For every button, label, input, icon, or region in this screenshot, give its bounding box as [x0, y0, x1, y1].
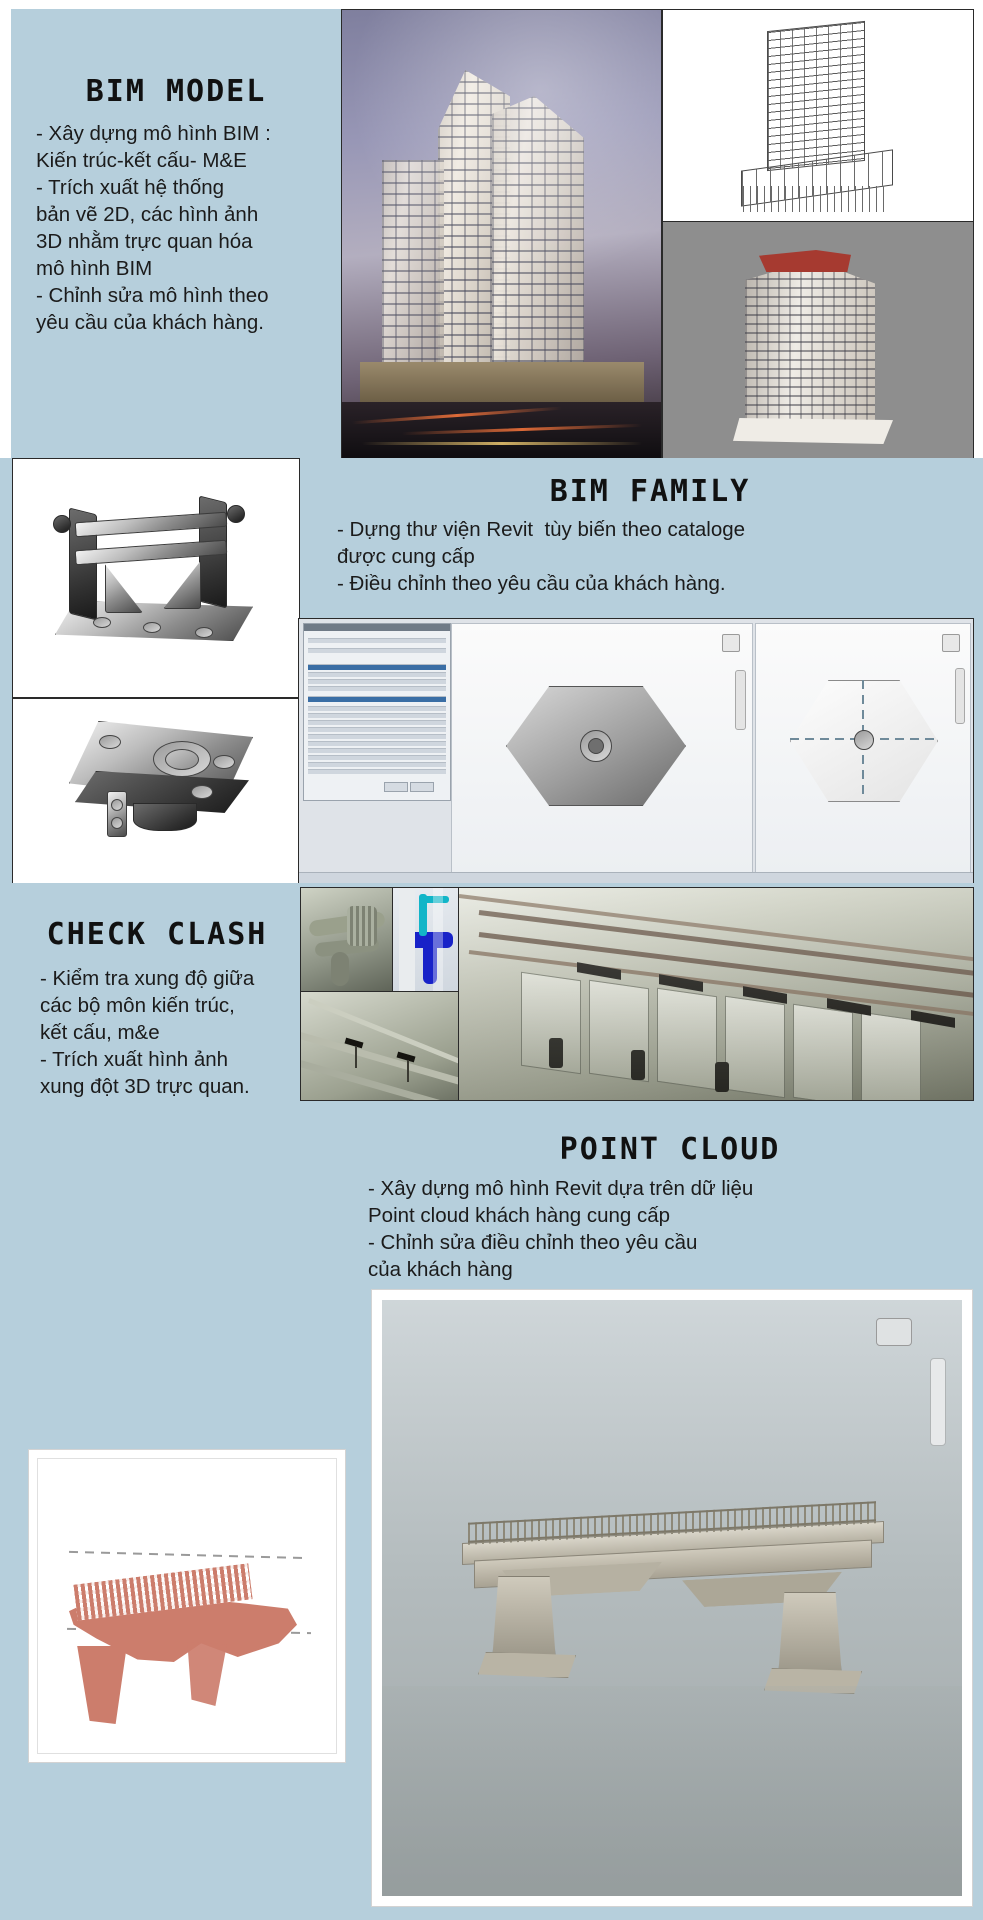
bim-model-title: BIM MODEL: [11, 75, 341, 108]
view-cube-icon[interactable]: [876, 1318, 912, 1346]
point-cloud-scan-image: [29, 1450, 345, 1762]
section-check-clash: CHECK CLASH - Kiểm tra xung độ giữa các …: [0, 883, 983, 1108]
bim-model-massing-image: [662, 221, 974, 458]
text-line: yêu cầu của khách hàng.: [36, 309, 336, 336]
revit-status-bar: [299, 872, 973, 883]
text-line: - Kiểm tra xung độ giữa: [40, 965, 310, 992]
text-line: xung đột 3D trực quan.: [40, 1073, 310, 1100]
bim-family-plate-image: [12, 698, 300, 883]
check-clash-pipe-image: [300, 887, 394, 993]
point-cloud-model-image: [372, 1290, 972, 1906]
text-line: - Trích xuất hình ảnh: [40, 1046, 310, 1073]
text-line: - Trích xuất hệ thống: [36, 174, 336, 201]
check-clash-description: - Kiểm tra xung độ giữa các bộ môn kiến …: [40, 965, 310, 1100]
revit-3d-view: [451, 623, 753, 875]
bim-model-structure-image: [662, 9, 974, 223]
text-line: - Điều chỉnh theo yêu cầu của khách hàng…: [337, 570, 982, 597]
text-line: - Xây dựng mô hình BIM :: [36, 120, 336, 147]
navigation-bar[interactable]: [930, 1358, 946, 1446]
text-line: Kiến trúc-kết cấu- M&E: [36, 147, 336, 174]
point-cloud-title: POINT CLOUD: [360, 1133, 980, 1166]
revit-family-types-dialog: [303, 623, 451, 801]
text-line: mô hình BIM: [36, 255, 336, 282]
bim-family-description: - Dựng thư viện Revit tùy biến theo cata…: [337, 516, 982, 597]
bim-family-bracket-image: [12, 458, 300, 698]
section-bim-model: BIM MODEL - Xây dựng mô hình BIM : Kiến …: [0, 0, 983, 458]
point-cloud-description: - Xây dựng mô hình Revit dựa trên dữ liệ…: [368, 1175, 983, 1283]
text-line: - Chỉnh sửa điều chỉnh theo yêu cầu: [368, 1229, 983, 1256]
text-line: kết cấu, m&e: [40, 1019, 310, 1046]
text-line: của khách hàng: [368, 1256, 983, 1283]
check-clash-ceiling-image: [300, 991, 460, 1101]
infographic-page: BIM MODEL - Xây dựng mô hình BIM : Kiến …: [0, 0, 983, 1920]
check-clash-plantroom-image: [458, 887, 974, 1101]
navigation-bar[interactable]: [955, 668, 965, 724]
text-line: các bộ môn kiến trúc,: [40, 992, 310, 1019]
text-line: bản vẽ 2D, các hình ảnh: [36, 201, 336, 228]
text-line: 3D nhằm trực quan hóa: [36, 228, 336, 255]
view-cube-icon[interactable]: [942, 634, 960, 652]
text-line: - Chỉnh sửa mô hình theo: [36, 282, 336, 309]
text-line: Point cloud khách hàng cung cấp: [368, 1202, 983, 1229]
bim-model-render-image: [341, 9, 662, 458]
check-clash-highlight-image: [392, 887, 460, 993]
navigation-bar[interactable]: [735, 670, 746, 730]
bim-family-title: BIM FAMILY: [330, 475, 970, 508]
dialog-title-bar: [304, 624, 450, 631]
text-line: - Xây dựng mô hình Revit dựa trên dữ liệ…: [368, 1175, 983, 1202]
view-cube-icon[interactable]: [722, 634, 740, 652]
text-line: được cung cấp: [337, 543, 982, 570]
revit-plan-view: [755, 623, 971, 875]
bim-family-revit-screenshot: [298, 618, 974, 883]
check-clash-title: CHECK CLASH: [12, 918, 302, 951]
bim-model-description: - Xây dựng mô hình BIM : Kiến trúc-kết c…: [36, 120, 336, 336]
text-line: - Dựng thư viện Revit tùy biến theo cata…: [337, 516, 982, 543]
section-bim-family: BIM FAMILY - Dựng thư viện Revit tùy biế…: [0, 458, 983, 883]
